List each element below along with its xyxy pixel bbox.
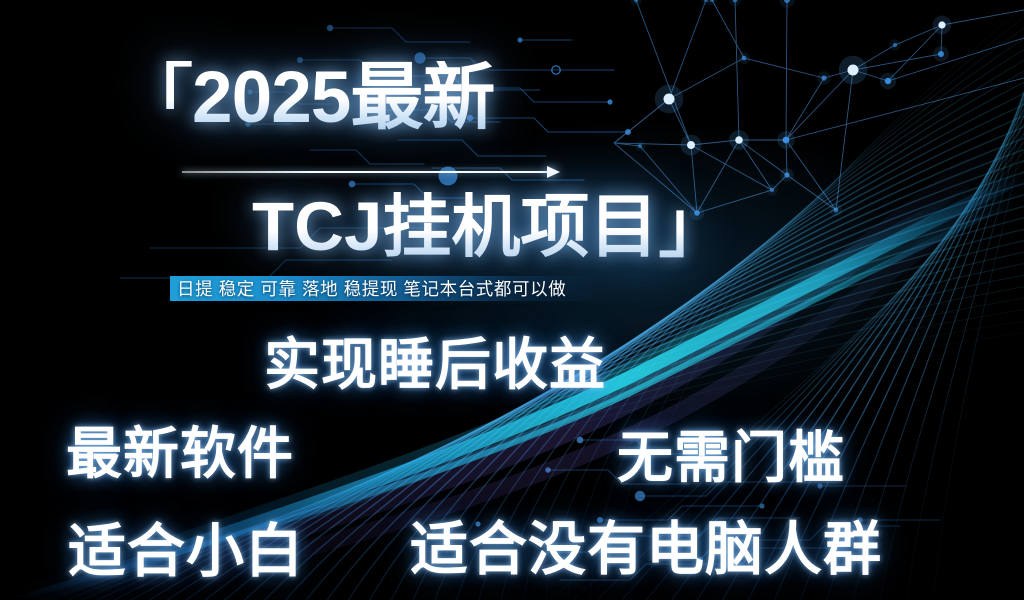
tagline-strip: 日提 稳定 可靠 落地 稳提现 笔记本台式都可以做: [170, 276, 566, 301]
audience-right: 适合没有电脑人群: [410, 521, 882, 579]
feature-right: 无需门槛: [617, 430, 845, 486]
arrow-shaft: [182, 171, 554, 173]
feature-left: 最新软件: [66, 426, 294, 482]
headline-middle: 实现睡后收益: [264, 337, 606, 393]
title-line-1: 「2025最新: [120, 61, 494, 134]
title-line-2: TCJ挂机项目」: [252, 192, 727, 261]
audience-left: 适合小白: [68, 523, 304, 581]
promo-banner: 「2025最新 TCJ挂机项目」 日提 稳定 可靠 落地 稳提现 笔记本台式都可…: [0, 0, 1024, 600]
arrow-head: [547, 166, 560, 178]
tagline-text: 日提 稳定 可靠 落地 稳提现 笔记本台式都可以做: [170, 276, 566, 301]
arrow-right-icon: [182, 165, 568, 181]
